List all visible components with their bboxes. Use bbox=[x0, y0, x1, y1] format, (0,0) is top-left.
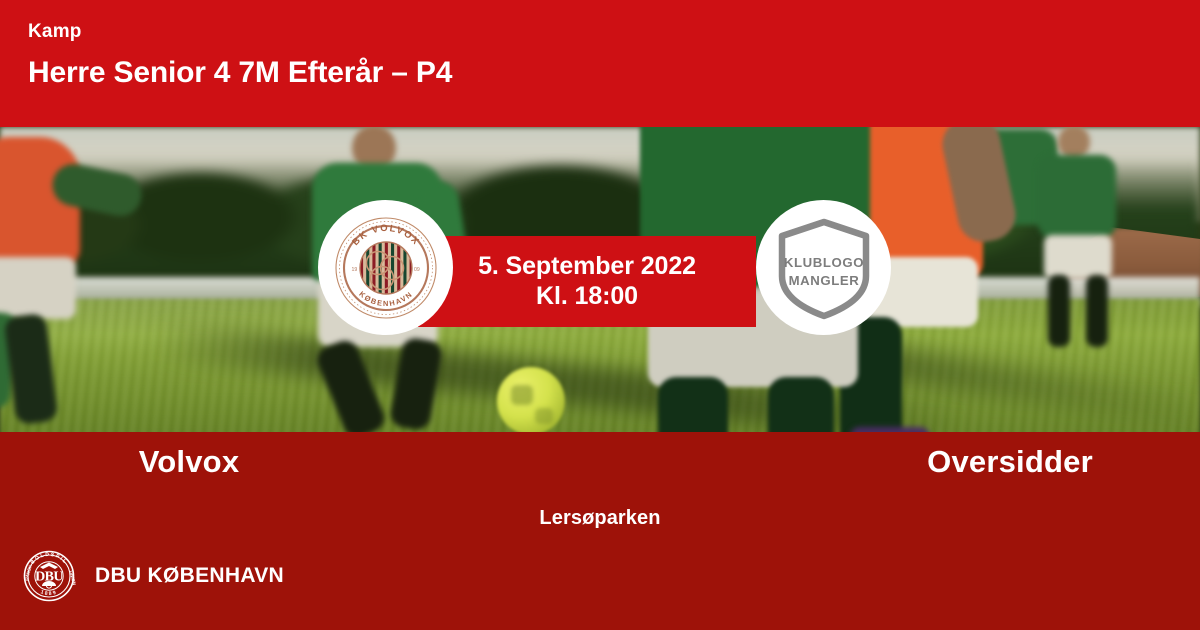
poster-header: Kamp Herre Senior 4 7M Efterår – P4 bbox=[0, 0, 1200, 127]
match-venue: Lersøparken bbox=[0, 507, 1200, 530]
photo-player bbox=[1038, 155, 1116, 239]
match-time: Kl. 18:00 bbox=[536, 282, 638, 312]
away-logo-line1: KLUBLOGO bbox=[783, 255, 863, 270]
home-logo-year-left: 19 bbox=[351, 267, 357, 273]
away-logo-line2: MANGLER bbox=[788, 273, 859, 288]
match-datetime-band: 5. September 2022 Kl. 18:00 bbox=[418, 236, 756, 327]
photo-player bbox=[658, 377, 728, 432]
photo-player bbox=[1048, 275, 1070, 347]
photo-player bbox=[1086, 275, 1108, 347]
football-panel bbox=[511, 385, 533, 405]
football-panel bbox=[535, 408, 553, 424]
dbu-monogram: DBU bbox=[35, 570, 63, 585]
teams-row: Volvox Oversidder bbox=[0, 444, 1200, 480]
photo-player bbox=[768, 377, 834, 432]
bk-volvox-crest-icon: BK VOLVOX KØBENHAVN 19 09 bbox=[334, 216, 438, 320]
match-poster: Kamp Herre Senior 4 7M Efterår – P4 bbox=[0, 0, 1200, 630]
footer-branding: DBU BOLDSPIL 1889 DANSK UNION DBU KØBENH… bbox=[22, 549, 284, 603]
away-team-name: Oversidder bbox=[600, 444, 1200, 480]
header-kicker: Kamp bbox=[28, 22, 1200, 43]
match-date: 5. September 2022 bbox=[478, 252, 696, 282]
footer-org-name: DBU KØBENHAVN bbox=[95, 564, 284, 588]
home-club-logo[interactable]: BK VOLVOX KØBENHAVN 19 09 bbox=[318, 200, 453, 335]
photo-player bbox=[1044, 235, 1112, 279]
home-team-name: Volvox bbox=[0, 444, 600, 480]
away-club-logo[interactable]: KLUBLOGO MANGLER bbox=[756, 200, 891, 335]
photo-player bbox=[0, 257, 76, 319]
page-title: Herre Senior 4 7M Efterår – P4 bbox=[28, 56, 1200, 89]
shield-placeholder-icon: KLUBLOGO MANGLER bbox=[772, 214, 876, 322]
home-logo-year-right: 09 bbox=[414, 267, 420, 273]
dbu-logo-icon: DBU BOLDSPIL 1889 DANSK UNION bbox=[22, 549, 76, 603]
